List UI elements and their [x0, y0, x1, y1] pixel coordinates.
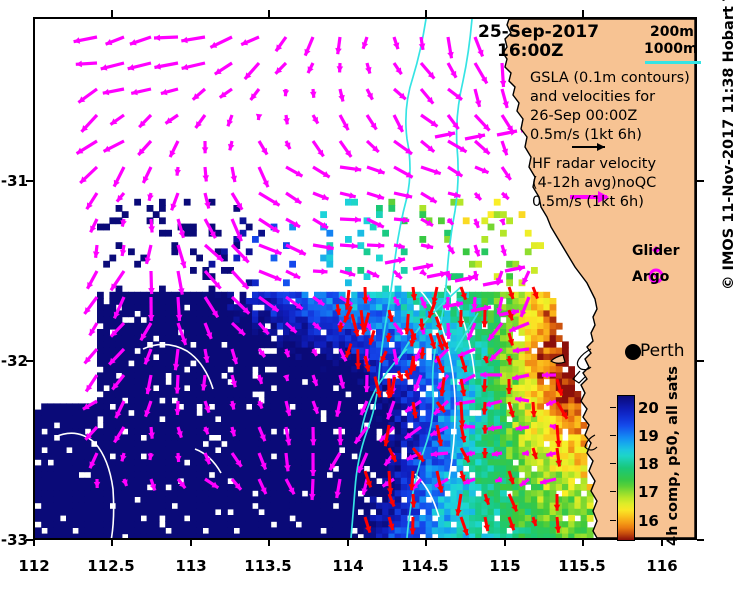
sst-pixel	[333, 372, 340, 379]
sst-pixel	[134, 509, 141, 516]
sst-pixel	[159, 310, 166, 317]
sst-pixel	[419, 527, 426, 534]
sst-pixel	[494, 416, 501, 423]
sst-pixel	[159, 465, 166, 472]
sst-pixel	[376, 515, 383, 522]
sst-pixel	[159, 292, 166, 299]
sst-pixel	[196, 335, 203, 342]
sst-pixel	[320, 292, 327, 299]
cblabel-20: 20	[638, 399, 659, 417]
sst-pixel	[128, 397, 135, 404]
sst-pixel	[246, 478, 253, 485]
sst-pixel	[469, 261, 476, 268]
sst-pixel	[475, 441, 482, 448]
sst-pixel	[264, 410, 271, 417]
sst-pixel	[41, 434, 48, 441]
sst-pixel	[215, 496, 222, 503]
sst-pixel	[283, 496, 290, 503]
sst-pixel	[134, 410, 141, 417]
sst-pixel	[134, 403, 141, 410]
sst-pixel	[252, 447, 259, 454]
sst-pixel	[271, 410, 278, 417]
sst-pixel	[562, 465, 569, 472]
sst-pixel	[85, 453, 92, 460]
sst-pixel	[78, 465, 85, 472]
sst-pixel	[72, 453, 79, 460]
sst-pixel	[289, 379, 296, 386]
sst-pixel	[537, 335, 544, 342]
sst-pixel	[252, 341, 259, 348]
sst-pixel	[196, 366, 203, 373]
sst-pixel	[66, 496, 73, 503]
sst-pixel	[47, 447, 54, 454]
sst-pixel	[184, 230, 191, 237]
sst-pixel	[252, 527, 259, 534]
sst-pixel	[134, 360, 141, 367]
sst-pixel	[475, 509, 482, 516]
sst-pixel	[240, 534, 247, 538]
sst-pixel	[326, 317, 333, 324]
sst-pixel	[568, 496, 575, 503]
sst-map-figure: 112 112.5 113 113.5 114 114.5 115 115.5 …	[0, 0, 739, 592]
sst-pixel	[314, 459, 321, 466]
sst-pixel	[364, 304, 371, 311]
sst-pixel	[333, 447, 340, 454]
sst-pixel	[227, 335, 234, 342]
sst-pixel	[345, 447, 352, 454]
sst-pixel	[525, 329, 532, 336]
sst-pixel	[190, 509, 197, 516]
sst-pixel	[506, 509, 513, 516]
sst-pixel	[178, 496, 185, 503]
sst-pixel	[103, 515, 110, 522]
sst-pixel	[171, 478, 178, 485]
sst-pixel	[97, 534, 104, 538]
sst-pixel	[134, 372, 141, 379]
sst-pixel	[246, 465, 253, 472]
sst-pixel	[370, 317, 377, 324]
sst-pixel	[475, 379, 482, 386]
sst-pixel	[78, 416, 85, 423]
sst-pixel	[122, 441, 129, 448]
sst-pixel	[289, 503, 296, 510]
sst-pixel	[469, 509, 476, 516]
sst-pixel	[128, 354, 135, 361]
sst-pixel	[562, 503, 569, 510]
sst-pixel	[457, 484, 464, 491]
sst-pixel	[469, 416, 476, 423]
sst-pixel	[116, 534, 123, 538]
sst-pixel	[140, 527, 147, 534]
sst-pixel	[574, 434, 581, 441]
sst-pixel	[308, 527, 315, 534]
sst-pixel	[246, 379, 253, 386]
sst-pixel	[140, 366, 147, 373]
sst-pixel	[519, 385, 526, 392]
sst-pixel	[475, 447, 482, 454]
sst-pixel	[97, 341, 104, 348]
sst-pixel	[525, 416, 532, 423]
sst-pixel	[512, 403, 519, 410]
sst-pixel	[128, 509, 135, 516]
sst-pixel	[159, 472, 166, 479]
sst-pixel	[41, 453, 48, 460]
sst-pixel	[370, 503, 377, 510]
sst-pixel	[227, 385, 234, 392]
sst-pixel	[78, 515, 85, 522]
sst-pixel	[85, 478, 92, 485]
sst-pixel	[159, 335, 166, 342]
sst-pixel	[438, 465, 445, 472]
sst-pixel	[35, 422, 42, 429]
sst-pixel	[41, 410, 48, 417]
sst-pixel	[401, 292, 408, 299]
sst-pixel	[562, 379, 569, 386]
sst-pixel	[426, 366, 433, 373]
sst-pixel	[376, 397, 383, 404]
sst-pixel	[494, 317, 501, 324]
sst-pixel	[488, 385, 495, 392]
sst-pixel	[240, 434, 247, 441]
xtick-top-113p5	[268, 10, 270, 17]
sst-pixel	[376, 527, 383, 534]
sst-pixel	[103, 434, 110, 441]
cbtick-17	[610, 491, 616, 492]
sst-pixel	[246, 441, 253, 448]
sst-pixel	[66, 490, 73, 497]
sst-pixel	[283, 366, 290, 373]
sst-pixel	[78, 459, 85, 466]
sst-pixel	[103, 428, 110, 435]
sst-pixel	[233, 515, 240, 522]
sst-pixel	[475, 478, 482, 485]
sst-pixel	[302, 348, 309, 355]
sst-pixel	[302, 335, 309, 342]
sst-pixel	[562, 521, 569, 528]
sst-pixel	[252, 515, 259, 522]
sst-pixel	[153, 459, 160, 466]
sst-pixel	[35, 515, 42, 522]
sst-pixel	[500, 379, 507, 386]
sst-pixel	[444, 441, 451, 448]
sst-pixel	[97, 521, 104, 528]
sst-pixel	[171, 329, 178, 336]
sst-pixel	[159, 205, 166, 212]
sst-pixel	[401, 310, 408, 317]
sst-pixel	[302, 496, 309, 503]
sst-pixel	[153, 509, 160, 516]
sst-pixel	[494, 534, 501, 538]
sst-pixel	[326, 310, 333, 317]
sst-pixel	[401, 385, 408, 392]
sst-pixel	[140, 484, 147, 491]
sst-pixel	[326, 447, 333, 454]
sst-pixel	[196, 434, 203, 441]
sst-pixel	[295, 335, 302, 342]
sst-pixel	[550, 310, 557, 317]
sst-pixel	[302, 354, 309, 361]
sst-pixel	[556, 478, 563, 485]
sst-pixel	[426, 459, 433, 466]
sst-pixel	[215, 335, 222, 342]
sst-pixel	[543, 459, 550, 466]
sst-pixel	[308, 416, 315, 423]
sst-pixel	[271, 329, 278, 336]
sst-pixel	[357, 521, 364, 528]
sst-pixel	[221, 397, 228, 404]
sst-pixel	[35, 428, 42, 435]
sst-pixel	[66, 422, 73, 429]
sst-pixel	[264, 310, 271, 317]
sst-pixel	[494, 459, 501, 466]
sst-pixel	[345, 459, 352, 466]
sst-pixel	[426, 391, 433, 398]
sst-pixel	[140, 509, 147, 516]
sst-pixel	[295, 527, 302, 534]
sst-pixel	[283, 521, 290, 528]
sst-pixel	[426, 323, 433, 330]
sst-pixel	[233, 472, 240, 479]
sst-pixel	[215, 441, 222, 448]
sst-pixel	[246, 534, 253, 538]
sst-pixel	[103, 304, 110, 311]
sst-pixel	[97, 310, 104, 317]
sst-pixel	[116, 422, 123, 429]
sst-pixel	[444, 416, 451, 423]
sst-pixel	[47, 403, 54, 410]
sst-pixel	[128, 441, 135, 448]
sst-pixel	[246, 224, 253, 231]
sst-pixel	[246, 527, 253, 534]
sst-pixel	[543, 434, 550, 441]
sst-pixel	[72, 484, 79, 491]
sst-pixel	[407, 298, 414, 305]
sst-pixel	[339, 366, 346, 373]
sst-pixel	[227, 527, 234, 534]
sst-pixel	[519, 403, 526, 410]
sst-pixel	[525, 379, 532, 386]
sst-pixel	[165, 441, 172, 448]
sst-pixel	[72, 496, 79, 503]
sst-pixel	[60, 496, 67, 503]
sst-pixel	[122, 447, 129, 454]
sst-pixel	[97, 496, 104, 503]
sst-pixel	[345, 515, 352, 522]
sst-pixel	[85, 490, 92, 497]
sst-pixel	[91, 534, 98, 538]
sst-pixel	[72, 416, 79, 423]
sst-pixel	[97, 385, 104, 392]
sst-pixel	[264, 472, 271, 479]
sst-pixel	[128, 515, 135, 522]
sst-pixel	[116, 490, 123, 497]
sst-pixel	[537, 453, 544, 460]
sst-pixel	[252, 397, 259, 404]
date-line-1: 25-Sep-2017	[478, 22, 599, 42]
sst-pixel	[159, 391, 166, 398]
sst-pixel	[271, 484, 278, 491]
sst-pixel	[240, 503, 247, 510]
sst-pixel	[364, 534, 371, 538]
sst-pixel	[184, 397, 191, 404]
sst-pixel	[537, 509, 544, 516]
sst-pixel	[295, 459, 302, 466]
sst-pixel	[202, 534, 209, 538]
sst-pixel	[271, 255, 278, 262]
sst-pixel	[357, 478, 364, 485]
sst-pixel	[308, 503, 315, 510]
xtick-label-3: 113.5	[238, 557, 298, 575]
sst-pixel	[184, 298, 191, 305]
sst-pixel	[320, 484, 327, 491]
sst-pixel	[289, 496, 296, 503]
xtick-label-8: 116	[632, 557, 692, 575]
sst-pixel	[140, 478, 147, 485]
sst-pixel	[109, 447, 116, 454]
sst-pixel	[78, 490, 85, 497]
sst-pixel	[227, 459, 234, 466]
sst-pixel	[109, 428, 116, 435]
sst-pixel	[165, 496, 172, 503]
sst-pixel	[289, 416, 296, 423]
sst-pixel	[413, 317, 420, 324]
sst-pixel	[550, 317, 557, 324]
sst-pixel	[91, 527, 98, 534]
sst-pixel	[500, 211, 507, 218]
sst-pixel	[512, 391, 519, 398]
sst-pixel	[153, 379, 160, 386]
sst-pixel	[271, 490, 278, 497]
sst-pixel	[500, 335, 507, 342]
xtick-label-2: 113	[161, 557, 221, 575]
sst-pixel	[190, 428, 197, 435]
sst-pixel	[221, 403, 228, 410]
sst-pixel	[252, 434, 259, 441]
sst-pixel	[116, 360, 123, 367]
sst-pixel	[134, 484, 141, 491]
sst-pixel	[574, 472, 581, 479]
sst-pixel	[184, 317, 191, 324]
sst-pixel	[103, 354, 110, 361]
sst-pixel	[401, 509, 408, 516]
sst-pixel	[395, 385, 402, 392]
sst-pixel	[134, 366, 141, 373]
sst-pixel	[506, 217, 513, 224]
sst-pixel	[481, 509, 488, 516]
sst-pixel	[550, 416, 557, 423]
sst-pixel	[215, 503, 222, 510]
cbtick-20	[610, 407, 616, 408]
sst-pixel	[72, 478, 79, 485]
sst-pixel	[41, 441, 48, 448]
sst-pixel	[97, 527, 104, 534]
sst-pixel	[419, 205, 426, 212]
sst-pixel	[475, 391, 482, 398]
sst-pixel	[531, 267, 538, 274]
sst-pixel	[562, 527, 569, 534]
sst-pixel	[357, 379, 364, 386]
sst-pixel	[481, 459, 488, 466]
sst-pixel	[401, 397, 408, 404]
sst-pixel	[240, 379, 247, 386]
sst-pixel	[512, 490, 519, 497]
sst-pixel	[457, 372, 464, 379]
sst-pixel	[401, 360, 408, 367]
sst-pixel	[134, 391, 141, 398]
sst-pixel	[258, 447, 265, 454]
ytick-label-0: -31	[0, 172, 28, 190]
sst-pixel	[289, 360, 296, 367]
sst-pixel	[376, 422, 383, 429]
sst-pixel	[500, 410, 507, 417]
sst-pixel	[537, 410, 544, 417]
sst-pixel	[401, 267, 408, 274]
sst-pixel	[72, 521, 79, 528]
sst-pixel	[271, 372, 278, 379]
sst-pixel	[159, 317, 166, 324]
sst-pixel	[122, 509, 129, 516]
sst-pixel	[500, 341, 507, 348]
sst-pixel	[494, 360, 501, 367]
sst-pixel	[543, 422, 550, 429]
sst-pixel	[140, 496, 147, 503]
sst-pixel	[494, 527, 501, 534]
sst-pixel	[159, 372, 166, 379]
sst-pixel	[370, 434, 377, 441]
sst-pixel	[264, 503, 271, 510]
sst-pixel	[339, 509, 346, 516]
sst-pixel	[66, 503, 73, 510]
sst-pixel	[463, 509, 470, 516]
sst-pixel	[326, 379, 333, 386]
sst-pixel	[550, 366, 557, 373]
xtick-top-112p5	[111, 10, 113, 17]
sst-pixel	[314, 317, 321, 324]
sst-pixel	[190, 379, 197, 386]
sst-pixel	[320, 335, 327, 342]
sst-pixel	[537, 534, 544, 538]
sst-pixel	[128, 453, 135, 460]
sst-pixel	[153, 521, 160, 528]
sst-pixel	[122, 472, 129, 479]
sst-pixel	[395, 416, 402, 423]
sst-pixel	[500, 366, 507, 373]
sst-pixel	[190, 441, 197, 448]
sst-pixel	[543, 410, 550, 417]
sst-pixel	[134, 534, 141, 538]
sst-pixel	[122, 391, 129, 398]
sst-pixel	[233, 534, 240, 538]
sst-pixel	[512, 434, 519, 441]
sst-pixel	[401, 472, 408, 479]
sst-pixel	[481, 484, 488, 491]
sst-pixel	[147, 490, 154, 497]
sst-pixel	[320, 317, 327, 324]
sst-pixel	[41, 422, 48, 429]
sst-pixel	[500, 354, 507, 361]
sst-pixel	[531, 304, 538, 311]
sst-pixel	[246, 496, 253, 503]
cblabel-17: 17	[638, 483, 659, 501]
sst-pixel	[271, 422, 278, 429]
sst-pixel	[314, 428, 321, 435]
sst-pixel	[215, 490, 222, 497]
sst-pixel	[128, 503, 135, 510]
sst-pixel	[438, 292, 445, 299]
sst-pixel	[543, 484, 550, 491]
sst-pixel	[500, 416, 507, 423]
sst-pixel	[376, 329, 383, 336]
